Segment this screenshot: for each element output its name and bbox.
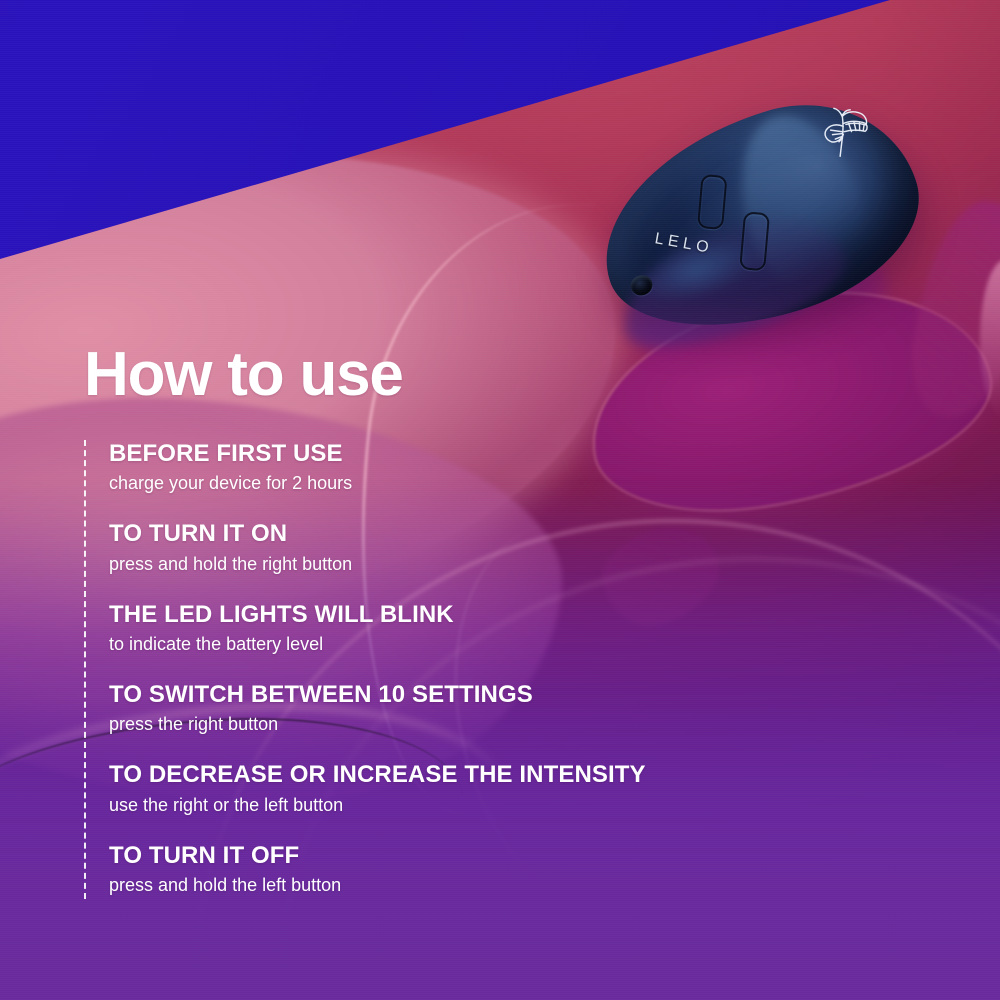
list-item: TO TURN IT OFF press and hold the left b… xyxy=(109,842,844,899)
steps-list: BEFORE FIRST USE charge your device for … xyxy=(84,440,844,899)
list-item: TO SWITCH BETWEEN 10 SETTINGS press the … xyxy=(109,681,844,738)
step-description: press the right button xyxy=(109,711,844,738)
list-item: TO TURN IT ON press and hold the right b… xyxy=(109,520,844,577)
how-to-use-infographic: LELO How to use BEFORE FIRST USE charge … xyxy=(0,0,1000,1000)
device-right-button[interactable] xyxy=(739,211,770,271)
step-title: TO SWITCH BETWEEN 10 SETTINGS xyxy=(109,681,844,709)
step-description: press and hold the left button xyxy=(109,872,844,899)
butterfly-icon xyxy=(815,105,874,164)
list-item: TO DECREASE OR INCREASE THE INTENSITY us… xyxy=(109,761,844,818)
list-item: BEFORE FIRST USE charge your device for … xyxy=(109,440,844,497)
step-title: TO TURN IT ON xyxy=(109,520,844,548)
step-title: THE LED LIGHTS WILL BLINK xyxy=(109,601,844,629)
page-title: How to use xyxy=(84,344,403,406)
step-description: charge your device for 2 hours xyxy=(109,470,844,497)
step-title: TO TURN IT OFF xyxy=(109,842,844,870)
step-description: press and hold the right button xyxy=(109,551,844,578)
step-description: use the right or the left button xyxy=(109,792,844,819)
step-title: BEFORE FIRST USE xyxy=(109,440,844,468)
step-description: to indicate the battery level xyxy=(109,631,844,658)
device-left-button[interactable] xyxy=(697,174,728,230)
step-title: TO DECREASE OR INCREASE THE INTENSITY xyxy=(109,761,844,789)
list-item: THE LED LIGHTS WILL BLINK to indicate th… xyxy=(109,601,844,658)
